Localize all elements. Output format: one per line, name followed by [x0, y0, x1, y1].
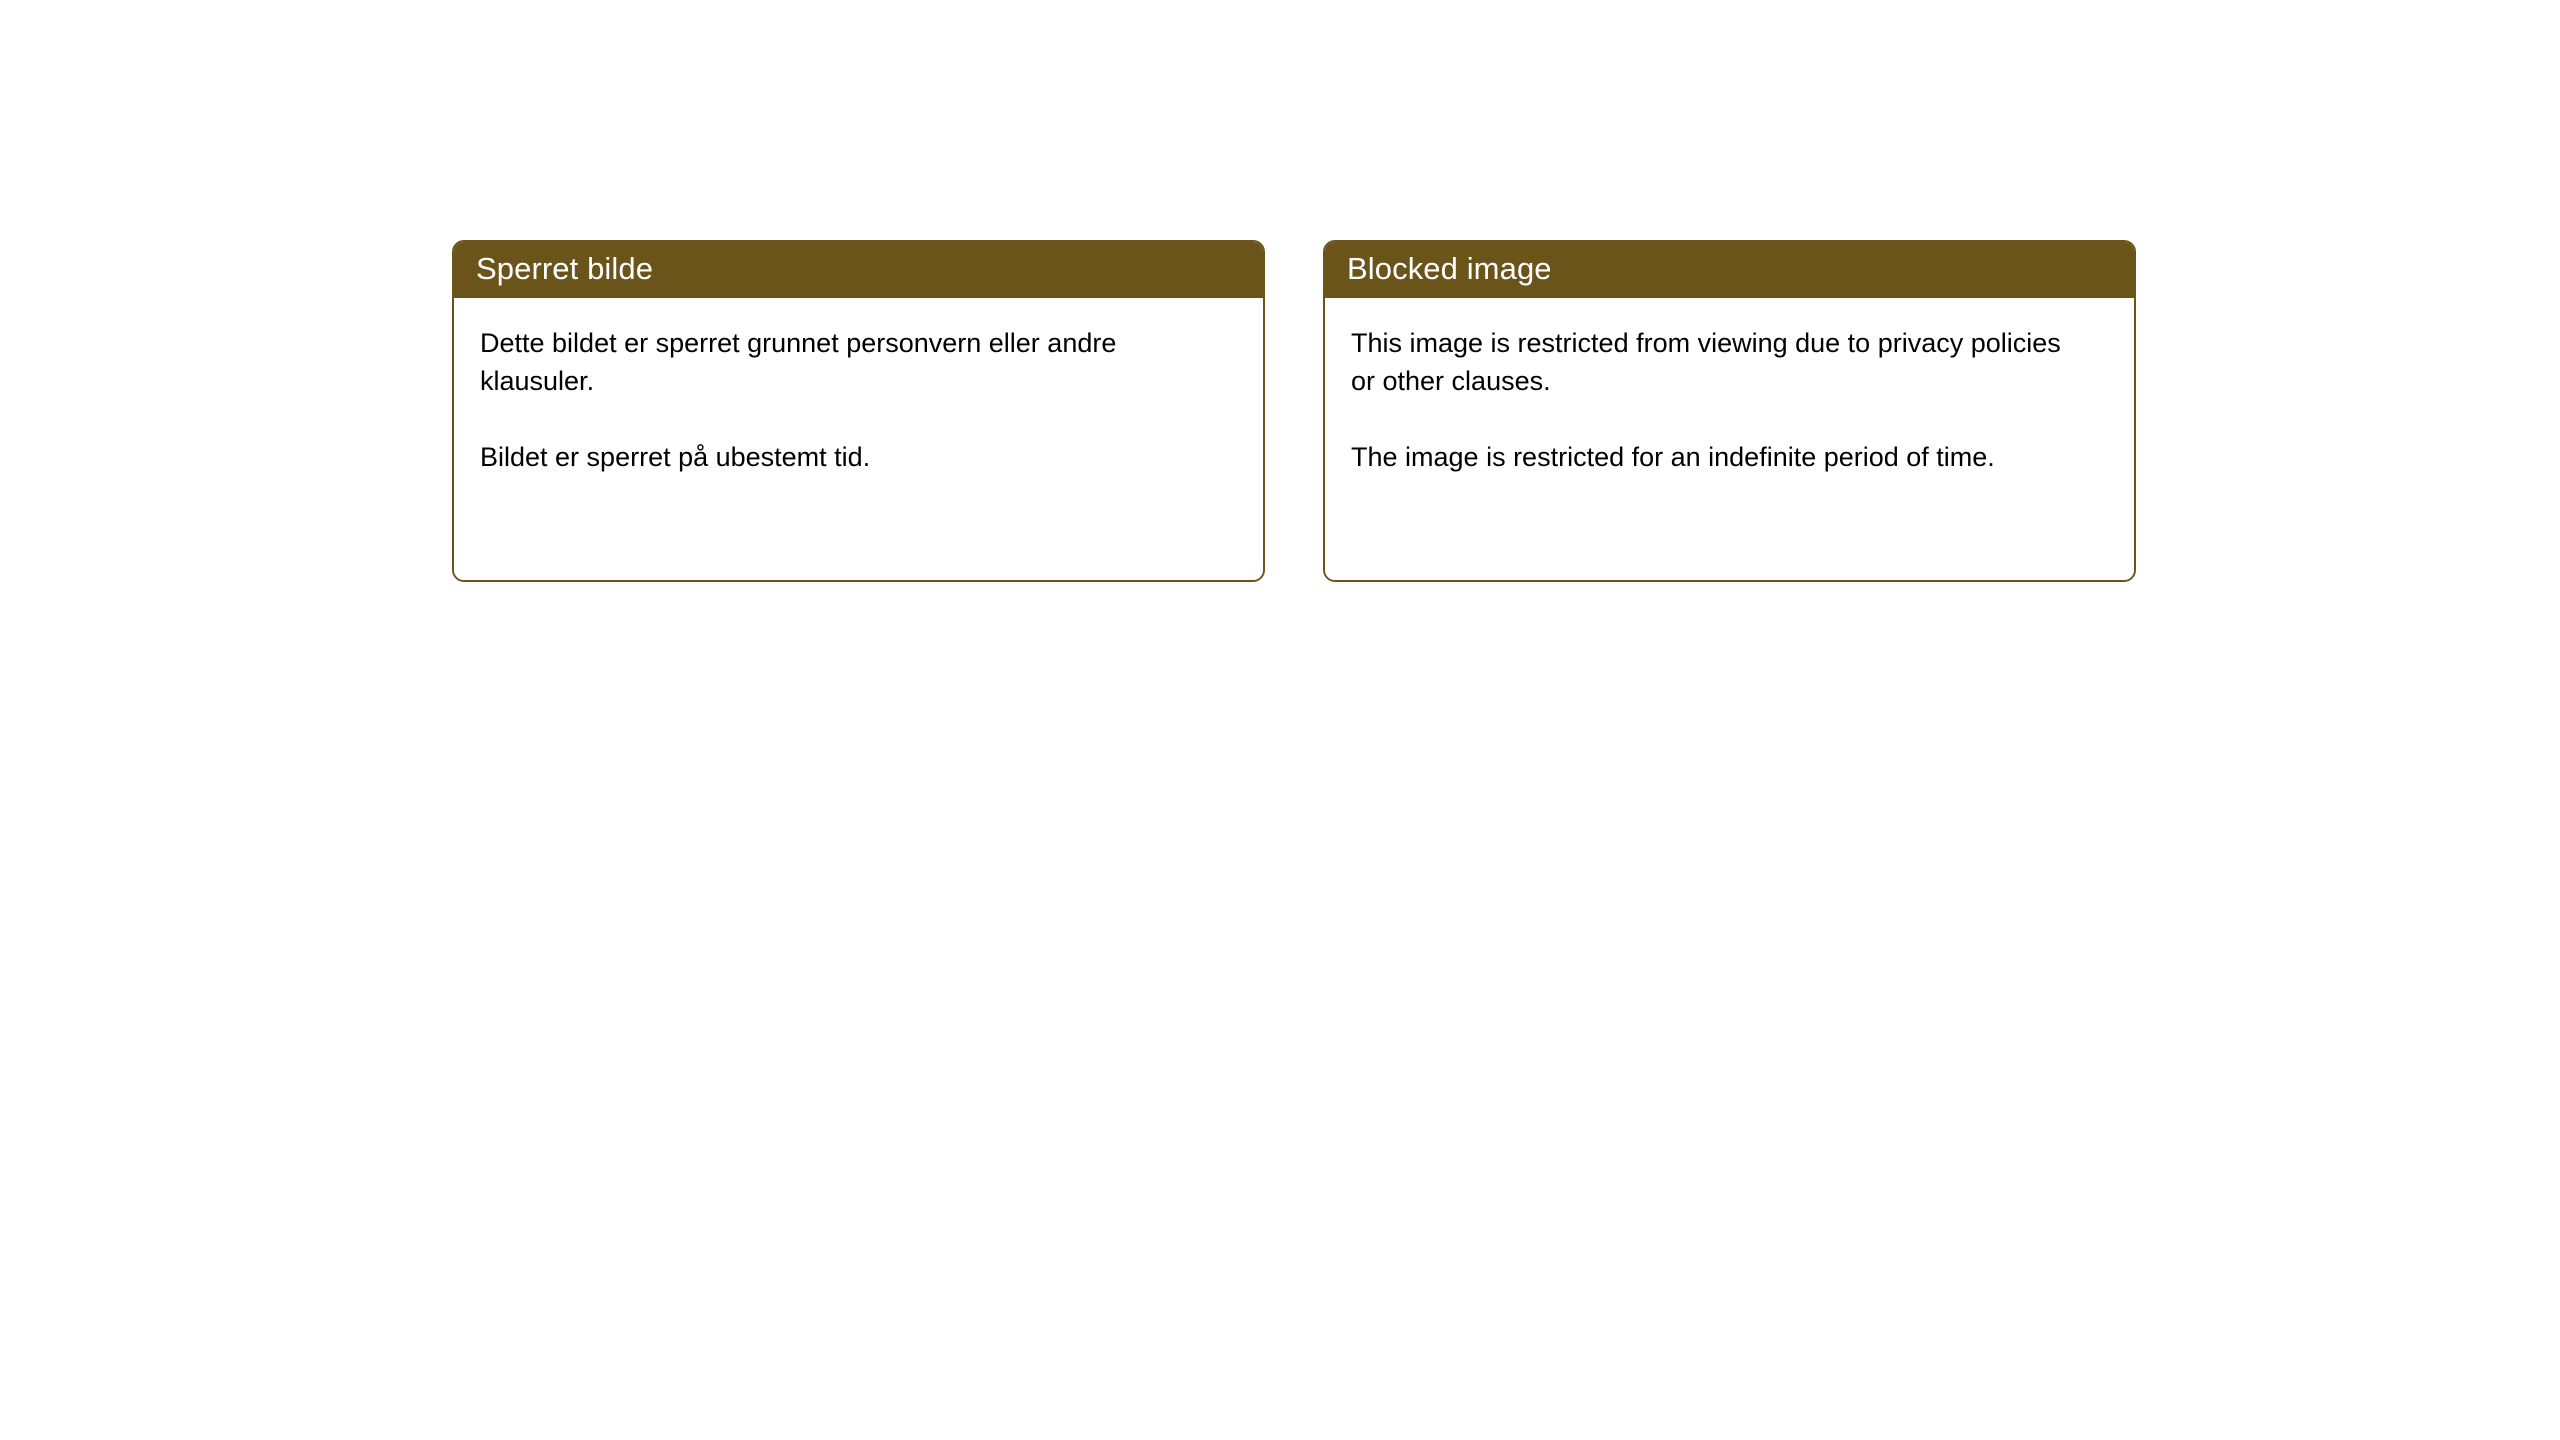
notice-title-no: Sperret bilde — [476, 252, 653, 286]
notice-paragraph-reason-no: Dette bildet er sperret grunnet personve… — [480, 324, 1220, 400]
blocked-image-notice-en: Blocked image This image is restricted f… — [1323, 240, 2136, 582]
notice-header-no: Sperret bilde — [452, 240, 1265, 298]
notice-paragraph-reason-en: This image is restricted from viewing du… — [1351, 324, 2091, 400]
blocked-image-notice-no: Sperret bilde Dette bildet er sperret gr… — [452, 240, 1265, 582]
page-canvas: Sperret bilde Dette bildet er sperret gr… — [0, 0, 2560, 1440]
notice-body-en: This image is restricted from viewing du… — [1325, 298, 2134, 580]
notice-header-en: Blocked image — [1323, 240, 2136, 298]
notice-body-no: Dette bildet er sperret grunnet personve… — [454, 298, 1263, 580]
notice-paragraph-duration-no: Bildet er sperret på ubestemt tid. — [480, 438, 1220, 476]
notice-paragraph-duration-en: The image is restricted for an indefinit… — [1351, 438, 2091, 476]
notice-title-en: Blocked image — [1347, 252, 1552, 286]
